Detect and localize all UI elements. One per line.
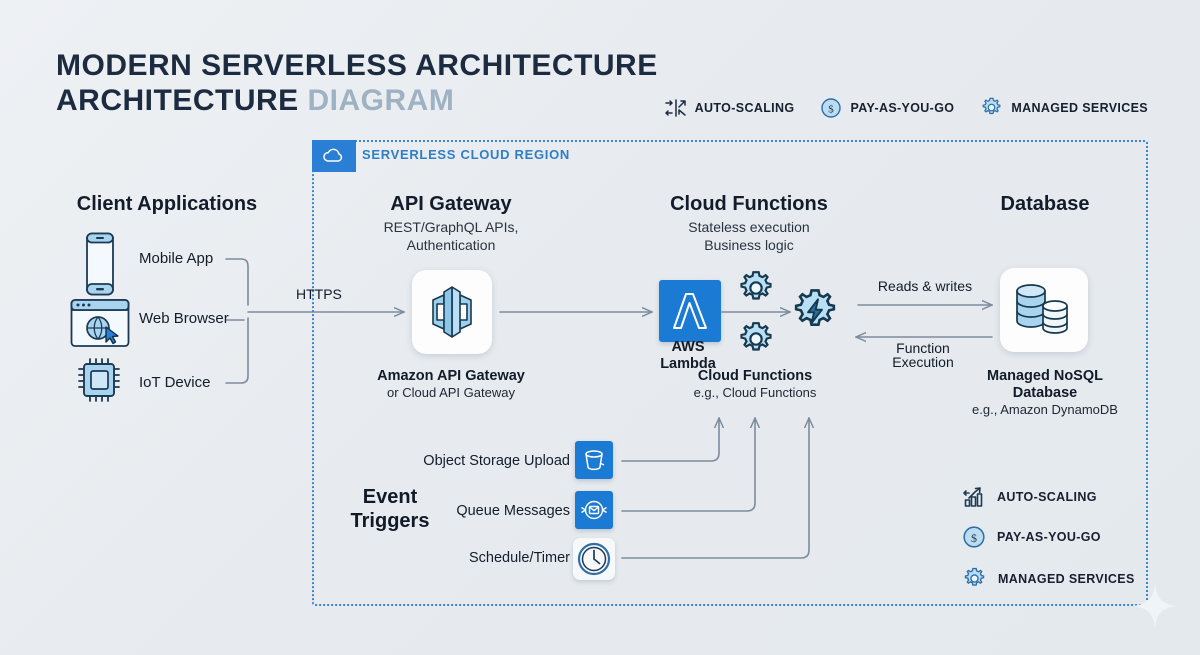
chip-icon [74,355,126,405]
aws-api-gateway-icon [424,283,480,341]
clients-title: Client Applications [42,193,292,216]
edge-label-reads-writes: Reads & writes [860,278,990,295]
api-gateway-sub-1: REST/GraphQL APIs, [326,218,576,236]
database-card[interactable] [1000,268,1088,352]
browser-globe-icon [70,298,130,348]
gear-lightning-icon [789,285,841,337]
database-caption-3: e.g., Amazon DynamoDB [930,401,1160,418]
scaling-arrows-icon [665,98,687,118]
badge-auto-scaling: AUTO-SCALING [665,98,795,118]
client-label-mobile: Mobile App [139,250,213,267]
api-gateway-sub-2: Authentication [326,236,576,254]
api-gateway-card[interactable] [412,270,492,354]
lambda-label-1: AWS [624,338,752,356]
queue-icon [580,497,608,523]
trigger-label-storage: Object Storage Upload [370,453,570,469]
cloud-region-label: SERVERLESS CLOUD REGION [362,147,570,162]
database-cylinders-icon [1011,280,1077,340]
badge-label: PAY-AS-YOU-GO [850,101,954,115]
badge-label: AUTO-SCALING [695,101,795,115]
edge-label-function-exec-2: Execution [858,354,988,371]
cloud-icon [321,147,347,165]
svg-text:$: $ [971,531,977,545]
growth-chart-icon [962,486,986,508]
client-label-iot: IoT Device [139,374,210,391]
title-line-1: MODERN SERVERLESS ARCHITECTURE [56,48,658,83]
legend-label: MANAGED SERVICES [998,572,1135,586]
api-gateway-caption-1: Amazon API Gateway [326,367,576,385]
bottom-feature-legend: AUTO-SCALING $ PAY-AS-YOU-GO MANAGE [962,486,1135,591]
cloud-functions-title: Cloud Functions [624,193,874,216]
gear-icon [962,566,987,591]
legend-managed-services: MANAGED SERVICES [962,566,1135,591]
client-label-browser: Web Browser [139,310,229,327]
dollar-circle-icon: $ [820,97,842,119]
trigger-label-queue: Queue Messages [370,503,570,519]
badge-managed-services: MANAGED SERVICES [980,96,1148,119]
svg-text:$: $ [829,103,835,115]
gear-icon [736,319,776,359]
top-feature-badges: AUTO-SCALING $ PAY-AS-YOU-GO MANAGE [665,96,1148,119]
title-line-2-light: DIAGRAM [308,84,455,117]
aws-lambda-icon [668,288,712,334]
trigger-label-schedule: Schedule/Timer [370,550,570,566]
edge-label-https: HTTPS [296,286,342,303]
cloud-functions-caption-2: e.g., Cloud Functions [660,384,850,401]
page-title: MODERN SERVERLESS ARCHITECTURE ARCHITECT… [56,48,658,118]
api-gateway-caption-2: or Cloud API Gateway [326,384,576,401]
legend-label: PAY-AS-YOU-GO [997,530,1101,544]
queue-messages-trigger[interactable] [575,491,613,529]
gear-icon [736,268,776,308]
cloud-functions-caption-1: Cloud Functions [660,367,850,385]
bucket-icon [581,447,607,473]
title-line-2-dark: ARCHITECTURE [56,84,299,117]
gear-icon [980,96,1003,119]
api-gateway-title: API Gateway [326,193,576,216]
database-title: Database [920,193,1170,216]
legend-label: AUTO-SCALING [997,490,1097,504]
diagram-canvas: MODERN SERVERLESS ARCHITECTURE ARCHITECT… [0,0,1200,655]
cloud-functions-sub-1: Stateless execution [624,218,874,236]
schedule-timer-trigger[interactable] [573,538,615,580]
aws-lambda-card[interactable] [659,280,721,342]
cloud-region-tab [312,140,356,172]
title-line-2: ARCHITECTURE DIAGRAM [56,83,658,118]
badge-pay-as-you-go: $ PAY-AS-YOU-GO [820,97,954,119]
badge-label: MANAGED SERVICES [1011,101,1148,115]
object-storage-trigger[interactable] [575,441,613,479]
database-caption-2: Database [930,384,1160,402]
mobile-phone-icon [78,232,122,296]
clock-icon [577,542,611,576]
cloud-functions-sub-2: Business logic [624,236,874,254]
sparkle-icon [1131,582,1179,630]
dollar-circle-icon: $ [962,525,986,549]
legend-auto-scaling: AUTO-SCALING [962,486,1135,508]
legend-pay-as-you-go: $ PAY-AS-YOU-GO [962,525,1135,549]
